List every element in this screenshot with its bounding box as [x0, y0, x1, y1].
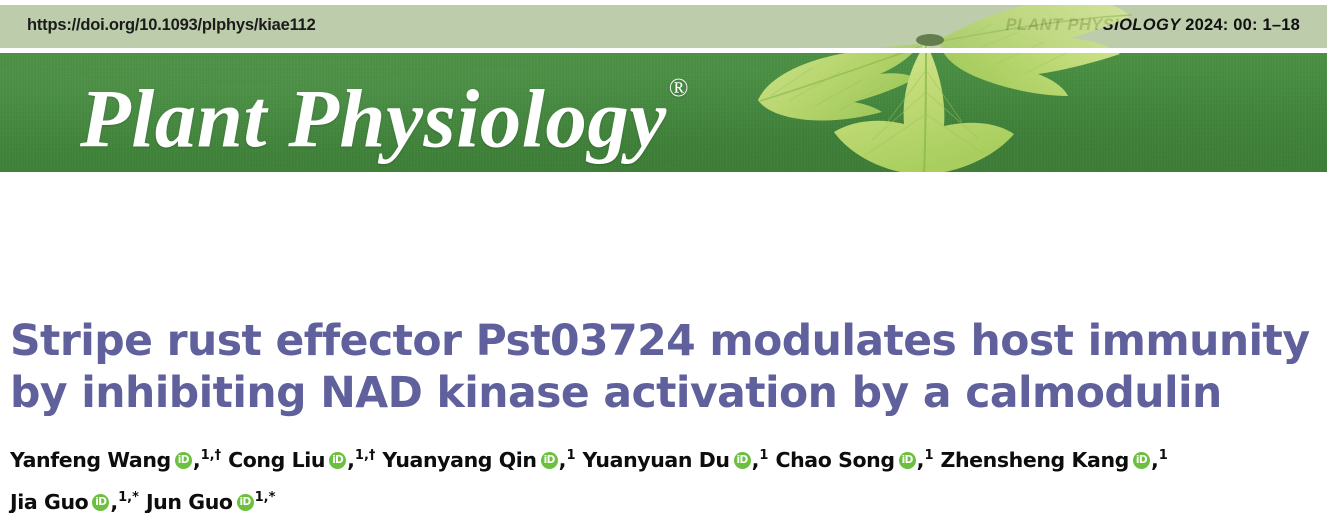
author-affiliation-marker[interactable]: 1,†	[201, 448, 221, 463]
orcid-id-label: iD	[1133, 452, 1150, 469]
author-yanfeng-wang[interactable]: Yanfeng WangiD,1,†	[10, 448, 221, 472]
orcid-id-label: iD	[92, 494, 109, 511]
article-title-line-2: by inhibiting NAD kinase activation by a…	[10, 368, 1327, 420]
author-name: Jun Guo	[146, 490, 233, 513]
journal-wordmark-text: Plant Physiology	[80, 73, 667, 165]
orcid-icon[interactable]: iD	[1133, 452, 1150, 469]
author-jia-guo[interactable]: Jia GuoiD,1,*	[10, 490, 139, 513]
orcid-id-label: iD	[237, 494, 254, 511]
author-line-2: Jia GuoiD,1,*Jun GuoiD1,*	[10, 479, 1327, 513]
author-affiliation-marker[interactable]: 1,*	[255, 490, 276, 505]
author-name: Jia Guo	[10, 490, 88, 513]
article-title-line-1: Stripe rust effector Pst03724 modulates …	[10, 316, 1327, 368]
author-zhensheng-kang[interactable]: Zhensheng KangiD,1	[941, 448, 1168, 472]
author-affiliation-marker[interactable]: 1	[566, 448, 575, 463]
author-affiliation-marker[interactable]: 1	[759, 448, 768, 463]
orcid-icon[interactable]: iD	[734, 452, 751, 469]
author-name: Cong Liu	[228, 448, 325, 472]
journal-wordmark: Plant Physiology®	[80, 60, 686, 169]
orcid-icon[interactable]: iD	[92, 494, 109, 511]
orcid-id-label: iD	[541, 452, 558, 469]
author-name: Chao Song	[775, 448, 894, 472]
orcid-id-label: iD	[899, 452, 916, 469]
author-affiliation-marker[interactable]: 1	[924, 448, 933, 463]
doi-link[interactable]: https://doi.org/10.1093/plphys/kiae112	[27, 16, 316, 35]
author-name: Zhensheng Kang	[941, 448, 1129, 472]
author-affiliation-marker[interactable]: 1,†	[355, 448, 375, 463]
author-name: Yuanyuan Du	[582, 448, 729, 472]
author-separator: ,	[1151, 448, 1159, 472]
citation-volume-pages: 2024: 00: 1–18	[1185, 16, 1300, 34]
orcid-icon[interactable]: iD	[541, 452, 558, 469]
running-head-bar: https://doi.org/10.1093/plphys/kiae112 P…	[0, 5, 1327, 48]
orcid-id-label: iD	[734, 452, 751, 469]
author-separator: ,	[110, 490, 118, 513]
author-separator: ,	[347, 448, 355, 472]
author-cong-liu[interactable]: Cong LiuiD,1,†	[228, 448, 375, 472]
orcid-id-label: iD	[329, 452, 346, 469]
article-title: Stripe rust effector Pst03724 modulates …	[10, 316, 1327, 420]
orcid-id-label: iD	[175, 452, 192, 469]
author-affiliation-marker[interactable]: 1	[1159, 448, 1168, 463]
running-head-inner: https://doi.org/10.1093/plphys/kiae112 P…	[0, 5, 1327, 48]
author-line-1: Yanfeng WangiD,1,†Cong LiuiD,1,†Yuanyang…	[10, 437, 1327, 479]
journal-citation: PLANT PHYSIOLOGY 2024: 00: 1–18	[1006, 16, 1300, 35]
author-name: Yanfeng Wang	[10, 448, 171, 472]
orcid-icon[interactable]: iD	[329, 452, 346, 469]
orcid-icon[interactable]: iD	[899, 452, 916, 469]
journal-masthead-banner: Plant Physiology®	[0, 53, 1327, 172]
journal-name-label: PLANT PHYSIOLOGY	[1006, 16, 1181, 34]
author-yuanyang-qin[interactable]: Yuanyang QiniD,1	[382, 448, 575, 472]
orcid-icon[interactable]: iD	[175, 452, 192, 469]
author-affiliation-marker[interactable]: 1,*	[118, 490, 139, 505]
author-chao-song[interactable]: Chao SongiD,1	[775, 448, 933, 472]
author-separator: ,	[193, 448, 201, 472]
author-jun-guo[interactable]: Jun GuoiD1,*	[146, 490, 275, 513]
author-name: Yuanyang Qin	[382, 448, 536, 472]
article-header-page: https://doi.org/10.1093/plphys/kiae112 P…	[0, 0, 1327, 513]
author-list: Yanfeng WangiD,1,†Cong LiuiD,1,†Yuanyang…	[10, 437, 1327, 513]
registered-trademark-icon: ®	[669, 73, 689, 102]
orcid-icon[interactable]: iD	[237, 494, 254, 511]
author-yuanyuan-du[interactable]: Yuanyuan DuiD,1	[582, 448, 768, 472]
